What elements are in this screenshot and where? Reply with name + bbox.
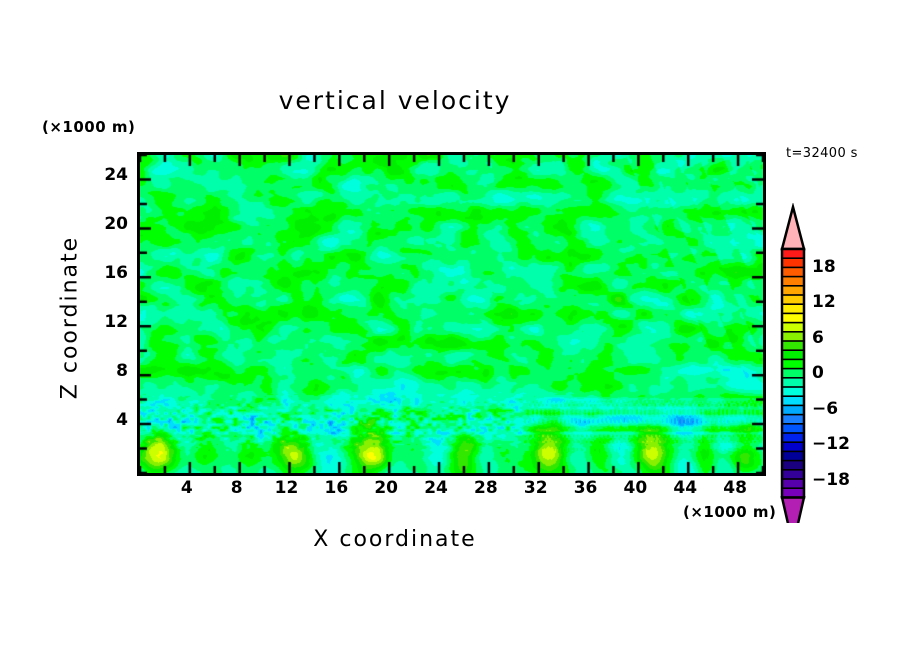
x-tick-label: 28	[474, 478, 498, 498]
colorbar-tick-label: 12	[812, 292, 836, 312]
simulation-time-annotation: t=32400 s	[786, 146, 858, 161]
colorbar: 181260−6−12−18	[776, 203, 896, 523]
x-tick-label: 40	[624, 478, 648, 498]
x-tick-label: 12	[275, 478, 299, 498]
x-tick-label: 20	[374, 478, 398, 498]
x-tick-label: 24	[424, 478, 448, 498]
contour-plot-area	[137, 152, 766, 476]
x-tick-label: 36	[574, 478, 598, 498]
x-tick-label: 8	[231, 478, 243, 498]
x-tick-label: 4	[181, 478, 193, 498]
x-tick-label: 16	[325, 478, 349, 498]
x-axis-units-label: (×1000 m)	[683, 503, 776, 521]
y-tick-label: 20	[104, 214, 128, 234]
x-tick-label: 32	[524, 478, 548, 498]
vertical-velocity-field	[140, 155, 763, 473]
colorbar-tick-label: −12	[812, 434, 850, 454]
x-tick-label: 44	[673, 478, 697, 498]
y-tick-label: 8	[116, 361, 128, 381]
y-tick-label: 16	[104, 263, 128, 283]
x-tick-label: 48	[723, 478, 747, 498]
colorbar-tick-label: −6	[812, 399, 838, 419]
colorbar-swatches	[776, 203, 816, 523]
x-axis-tick-labels: 4812162024283236404448	[137, 478, 760, 504]
y-axis-units-label: (×1000 m)	[42, 118, 135, 136]
colorbar-tick-label: 0	[812, 363, 824, 383]
y-axis-tick-labels: 4812162024	[90, 152, 128, 470]
colorbar-tick-label: 6	[812, 328, 824, 348]
page-title: vertical velocity	[0, 86, 790, 115]
colorbar-tick-label: 18	[812, 257, 836, 277]
x-axis-title: X coordinate	[0, 527, 790, 552]
y-tick-label: 4	[116, 410, 128, 430]
y-tick-label: 12	[104, 312, 128, 332]
y-tick-label: 24	[104, 165, 128, 185]
y-axis-title: Z coordinate	[58, 203, 83, 433]
colorbar-tick-label: −18	[812, 470, 850, 490]
